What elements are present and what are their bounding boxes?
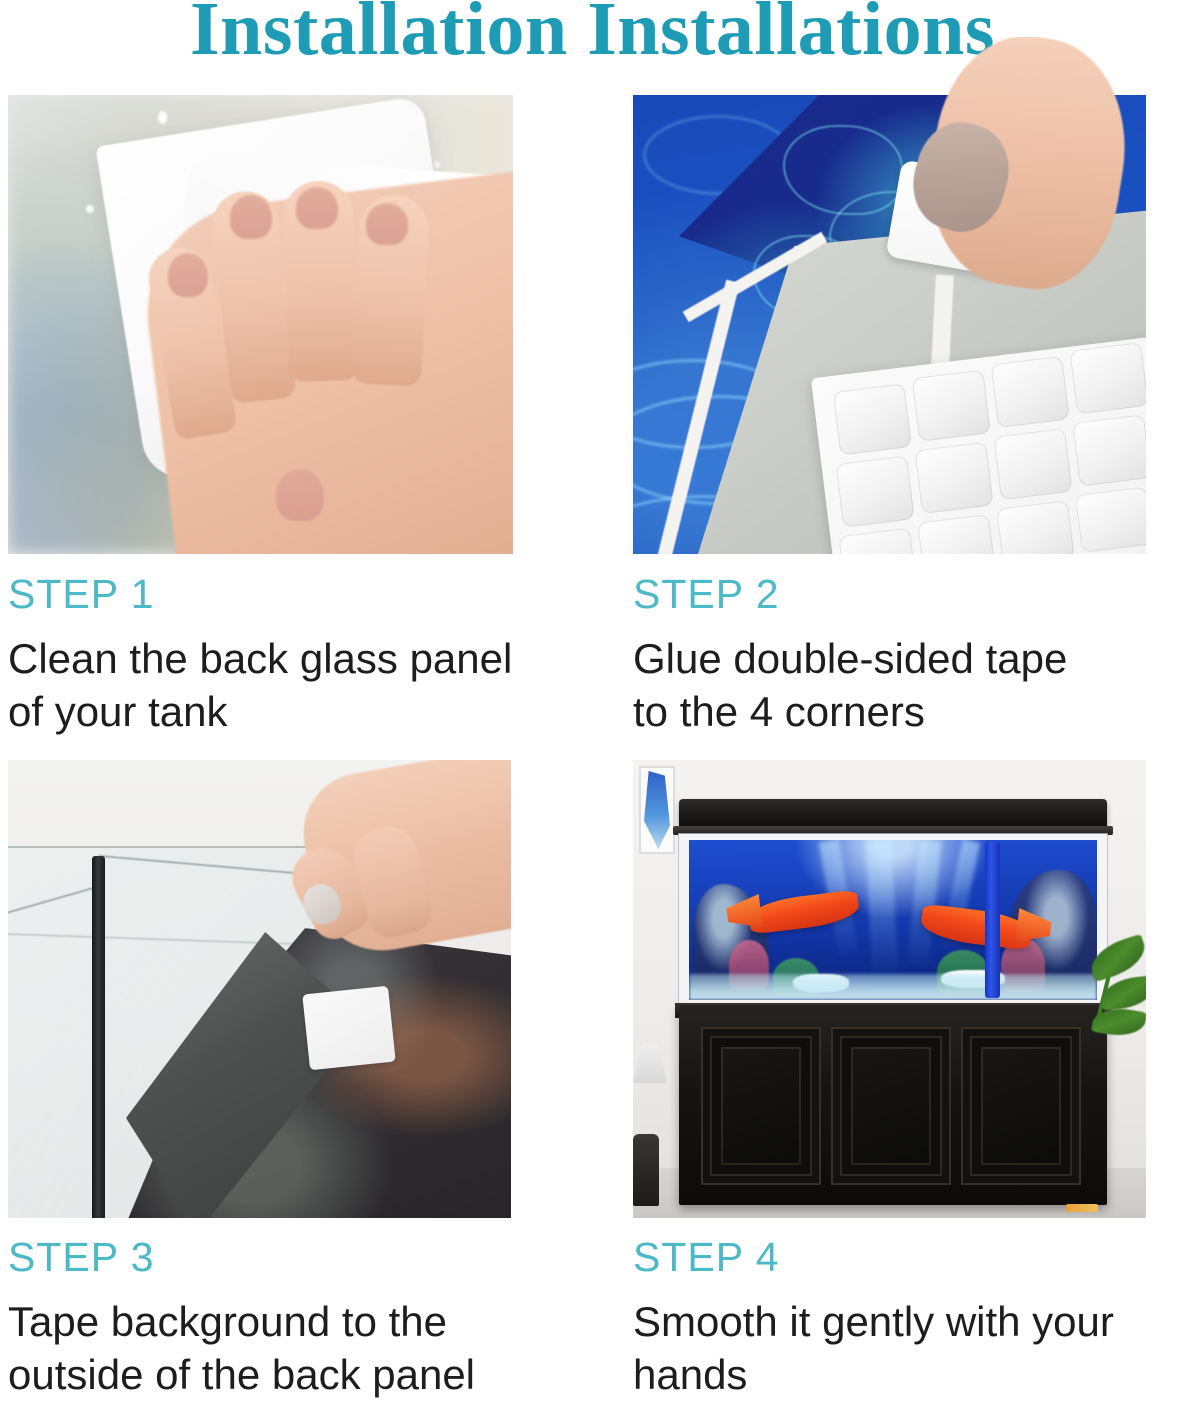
- water-droplet: [158, 111, 167, 124]
- step-3-description: Tape background to the outside of the ba…: [8, 1295, 511, 1401]
- floor-object: [633, 1134, 659, 1206]
- aquarium-cabinet-stand: [679, 1005, 1107, 1205]
- water-droplet: [86, 205, 94, 213]
- fingernail: [168, 253, 208, 297]
- tape-pad: [838, 528, 916, 554]
- step-card-1: STEP 1 Clean the back glass panel of you…: [8, 95, 513, 738]
- fingernail: [366, 203, 408, 245]
- tape-pad: [914, 442, 993, 514]
- step-2-hand-overhang: [863, 37, 1163, 297]
- installation-steps-grid: STEP 1 Clean the back glass panel of you…: [0, 0, 1185, 1398]
- blue-intake-pipe: [985, 842, 1000, 998]
- wall-art-frame: [639, 766, 675, 854]
- tape-pad: [917, 514, 996, 554]
- step-1-photo: [8, 95, 513, 554]
- fingernail: [230, 195, 272, 239]
- fingernail: [276, 469, 324, 521]
- tape-pad: [993, 428, 1072, 500]
- step-card-2: STEP 2 Glue double-sided tape to the 4 c…: [633, 95, 1146, 738]
- tape-pad: [1072, 414, 1146, 486]
- cabinet-door: [961, 1027, 1081, 1185]
- aquarium-water-with-background: [689, 840, 1097, 1000]
- tape-pad: [990, 356, 1069, 428]
- step-2-description: Glue double-sided tape to the 4 corners: [633, 632, 1146, 738]
- step-1-description: Clean the back glass panel of your tank: [8, 632, 513, 738]
- tape-pad: [912, 369, 991, 441]
- step-1-label: STEP 1: [8, 572, 513, 616]
- light-beam: [865, 840, 898, 981]
- tape-pad: [835, 455, 914, 527]
- tank-corner-trim: [92, 856, 105, 1218]
- double-sided-tape-square: [302, 986, 395, 1071]
- step-card-3: STEP 3 Tape background to the outside of…: [8, 760, 511, 1401]
- cabinet-door: [701, 1027, 821, 1185]
- step-4-photo: [633, 760, 1146, 1218]
- step-3-photo: [8, 760, 511, 1218]
- step-4-description: Smooth it gently with your hands: [633, 1295, 1146, 1401]
- step-card-4: STEP 4 Smooth it gently with your hands: [633, 760, 1146, 1401]
- tape-pad: [1069, 342, 1146, 414]
- step-2-label: STEP 2: [633, 572, 1146, 616]
- step-3-label: STEP 3: [8, 1235, 511, 1279]
- aquarium-sand-bed: [689, 974, 1097, 1000]
- water-droplet: [434, 161, 440, 168]
- wall-art-image: [644, 771, 670, 849]
- tape-pad: [996, 500, 1075, 554]
- tape-pad: [1075, 486, 1146, 552]
- step-4-label: STEP 4: [633, 1235, 1146, 1279]
- step-2-photo: [633, 95, 1146, 554]
- cabinet-door: [831, 1027, 951, 1185]
- fingernail: [296, 187, 338, 229]
- aquarium-hood: [679, 799, 1107, 829]
- tape-pad: [833, 383, 912, 455]
- floor-marker: [1066, 1204, 1098, 1212]
